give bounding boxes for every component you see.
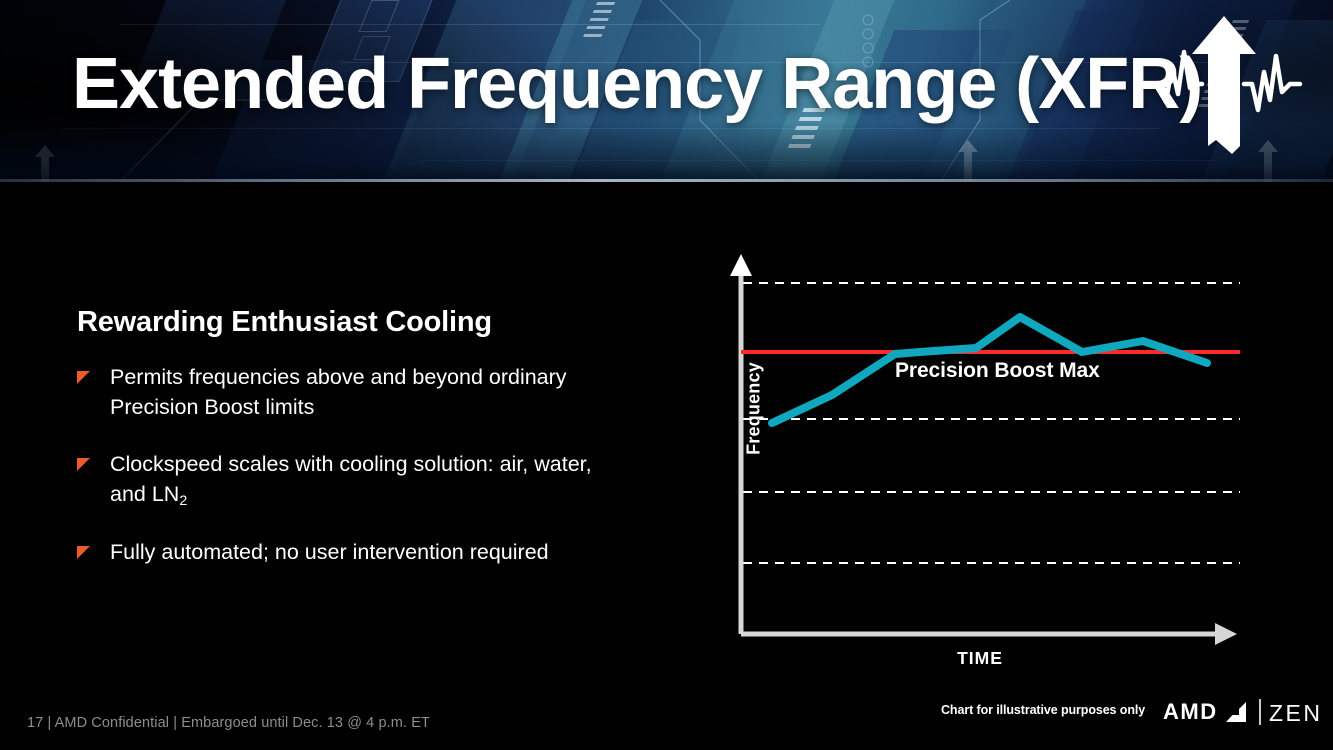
logo-divider — [1259, 699, 1261, 725]
slide: Extended Frequency Range (XFR) Rewarding… — [0, 0, 1333, 750]
list-item-label: Permits frequencies above and beyond ord… — [110, 362, 597, 423]
amd-logo-text: AMD — [1163, 699, 1218, 725]
chart-x-axis-label: TIME — [920, 648, 1040, 669]
list-item: Clockspeed scales with cooling solution:… — [77, 449, 597, 511]
up-arrow-waveform-icon — [1144, 14, 1304, 154]
chart-svg — [690, 248, 1260, 648]
bullet-triangle-icon — [77, 458, 90, 471]
bullet-list: Permits frequencies above and beyond ord… — [77, 362, 597, 567]
bullet-triangle-icon — [77, 371, 90, 384]
amd-arrow-icon — [1220, 698, 1246, 727]
list-item: Permits frequencies above and beyond ord… — [77, 362, 597, 423]
xfr-frequency-chart: Frequency TIME Precision Boost Max — [690, 248, 1260, 688]
header-banner: Extended Frequency Range (XFR) — [0, 0, 1333, 182]
list-item-label: Clockspeed scales with cooling solution:… — [110, 449, 597, 511]
zen-logo-text: ZEN — [1269, 700, 1323, 727]
chart-gridlines — [743, 283, 1240, 563]
bullet-triangle-icon — [77, 546, 90, 559]
amd-logo: AMD — [1163, 700, 1246, 724]
chart-x-axis — [741, 623, 1237, 645]
chart-y-axis-label: Frequency — [744, 339, 765, 479]
page-title: Extended Frequency Range (XFR) — [72, 48, 1202, 120]
section-subheading: Rewarding Enthusiast Cooling — [77, 306, 492, 339]
footer-confidential-text: 17 | AMD Confidential | Embargoed until … — [27, 715, 430, 731]
list-item-label: Fully automated; no user intervention re… — [110, 537, 597, 567]
header-divider — [0, 179, 1333, 182]
subscript: 2 — [179, 493, 187, 509]
header-bottom-fade — [0, 122, 1333, 182]
precision-boost-max-label: Precision Boost Max — [895, 359, 1100, 383]
chart-disclaimer: Chart for illustrative purposes only — [941, 703, 1145, 717]
list-item: Fully automated; no user intervention re… — [77, 537, 597, 567]
